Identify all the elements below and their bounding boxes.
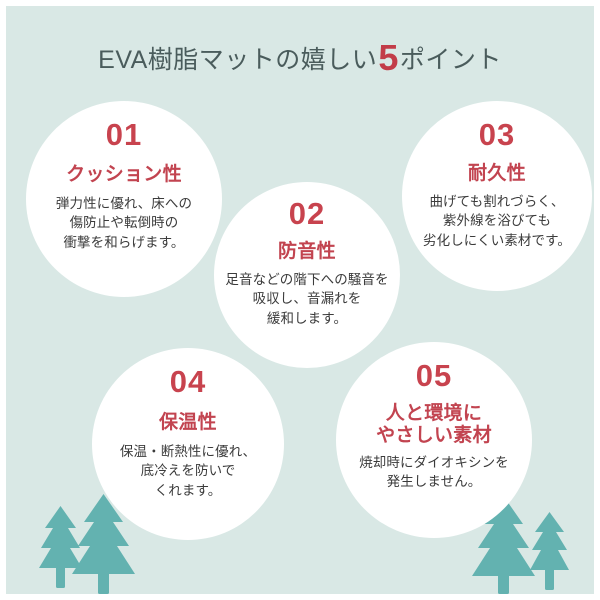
- point-heading: 防音性: [278, 241, 336, 263]
- point-body-line: 傷防止や転倒時の: [56, 213, 192, 233]
- point-body-line: くれます。: [120, 481, 256, 501]
- poster-panel: EVA樹脂マットの嬉しい5ポイント 01 クッション性 弾力性に優れ、床への 傷…: [6, 6, 594, 594]
- point-body: 焼却時にダイオキシンを 発生しません。: [359, 453, 509, 492]
- point-body-line: 焼却時にダイオキシンを: [359, 453, 509, 473]
- point-heading: クッション性: [66, 164, 182, 186]
- point-heading: 耐久性: [468, 163, 526, 185]
- point-body-line: 吸収し、音漏れを: [225, 289, 388, 309]
- point-bubble-04: 04 保温性 保温・断熱性に優れ、 底冷えを防いで くれます。: [92, 348, 284, 540]
- point-body-line: 底冷えを防いで: [120, 461, 256, 481]
- point-body-line: 発生しません。: [359, 472, 509, 492]
- point-heading-line: やさしい素材: [376, 425, 492, 447]
- point-body: 保温・断熱性に優れ、 底冷えを防いで くれます。: [120, 442, 256, 501]
- point-heading: 人と環境に やさしい素材: [376, 403, 492, 447]
- point-body-line: 衝撃を和らげます。: [56, 233, 192, 253]
- point-body-line: 足音などの階下への騒音を: [225, 270, 388, 290]
- point-body-line: 曲げても割れづらく、: [423, 192, 571, 212]
- point-bubble-01: 01 クッション性 弾力性に優れ、床への 傷防止や転倒時の 衝撃を和らげます。: [26, 101, 222, 297]
- point-number: 05: [416, 360, 452, 391]
- point-body-line: 保温・断熱性に優れ、: [120, 442, 256, 462]
- point-bubble-05: 05 人と環境に やさしい素材 焼却時にダイオキシンを 発生しません。: [336, 342, 532, 538]
- point-body-line: 弾力性に優れ、床への: [56, 194, 192, 214]
- title-text-after: ポイント: [400, 46, 502, 74]
- poster-title: EVA樹脂マットの嬉しい5ポイント: [6, 44, 594, 73]
- point-number: 01: [106, 119, 142, 150]
- point-number: 03: [479, 119, 515, 150]
- point-body: 曲げても割れづらく、 紫外線を浴びても 劣化しにくい素材です。: [423, 192, 571, 251]
- point-number: 02: [289, 198, 325, 229]
- point-body: 弾力性に優れ、床への 傷防止や転倒時の 衝撃を和らげます。: [56, 194, 192, 253]
- point-heading-line: 人と環境に: [376, 403, 492, 425]
- point-bubble-03: 03 耐久性 曲げても割れづらく、 紫外線を浴びても 劣化しにくい素材です。: [402, 101, 592, 291]
- point-number: 04: [170, 366, 206, 397]
- point-heading: 保温性: [159, 412, 217, 434]
- infographic-poster: EVA樹脂マットの嬉しい5ポイント 01 クッション性 弾力性に優れ、床への 傷…: [0, 0, 600, 600]
- title-point-count: 5: [378, 37, 399, 78]
- point-bubble-02: 02 防音性 足音などの階下への騒音を 吸収し、音漏れを 緩和します。: [214, 182, 400, 368]
- point-body-line: 紫外線を浴びても: [423, 211, 571, 231]
- point-body-line: 緩和します。: [225, 309, 388, 329]
- title-text-before: EVA樹脂マットの嬉しい: [98, 46, 377, 74]
- point-body: 足音などの階下への騒音を 吸収し、音漏れを 緩和します。: [225, 270, 388, 329]
- point-body-line: 劣化しにくい素材です。: [423, 231, 571, 251]
